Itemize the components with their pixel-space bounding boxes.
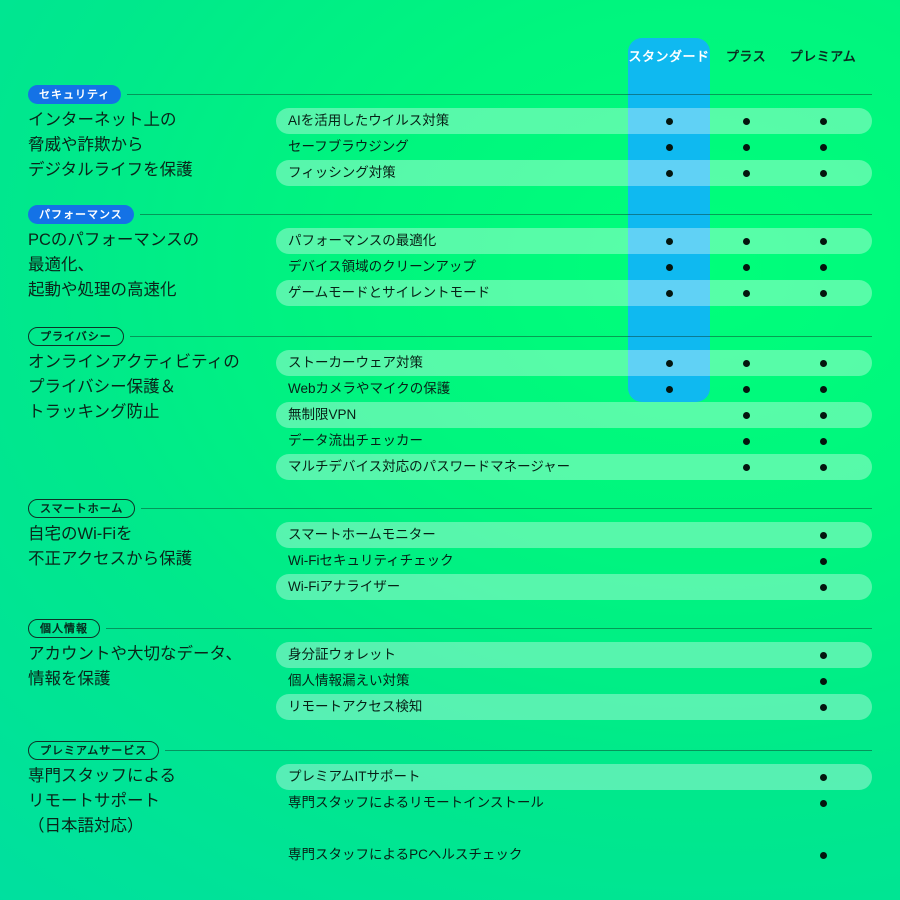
- availability-dot-standard: [666, 290, 673, 297]
- feature-label: 専門スタッフによるPCヘルスチェック: [276, 842, 522, 868]
- section-description-personal-info: アカウントや大切なデータ、 情報を保護: [28, 642, 280, 692]
- section-badge-personal-info: 個人情報: [28, 619, 100, 638]
- availability-dot-plus: [743, 118, 750, 125]
- availability-dot-premium: [820, 800, 827, 807]
- table-row: Wi-Fiアナライザー: [276, 574, 872, 600]
- table-row: 専門スタッフによるPCヘルスチェック: [276, 842, 872, 868]
- section-divider-personal-info: [106, 628, 872, 629]
- feature-label: 専門スタッフによるリモートインストール: [276, 790, 544, 816]
- table-row: AIを活用したウイルス対策: [276, 108, 872, 134]
- availability-dot-premium: [820, 438, 827, 445]
- section-divider-security: [127, 94, 872, 95]
- table-row: 無制限VPN: [276, 402, 872, 428]
- availability-dot-plus: [743, 386, 750, 393]
- feature-label: ゲームモードとサイレントモード: [276, 280, 490, 306]
- feature-label: Wi-Fiセキュリティチェック: [276, 548, 454, 574]
- section-header-privacy: プライバシー: [28, 326, 872, 346]
- feature-label: リモートアクセス検知: [276, 694, 422, 720]
- feature-rows-premium-service: プレミアムITサポート専門スタッフによるリモートインストール専門スタッフによるP…: [276, 764, 872, 868]
- section-description-privacy: オンラインアクティビティの プライバシー保護＆ トラッキング防止: [28, 350, 280, 425]
- plan-column-headers: スタンダードプラスプレミアム: [0, 48, 900, 78]
- feature-label: マルチデバイス対応のパスワードマネージャー: [276, 454, 570, 480]
- table-row: スマートホームモニター: [276, 522, 872, 548]
- section-badge-security: セキュリティ: [28, 85, 121, 104]
- availability-dot-standard: [666, 386, 673, 393]
- feature-rows-smart-home: スマートホームモニターWi-FiセキュリティチェックWi-Fiアナライザー: [276, 522, 872, 600]
- availability-dot-plus: [743, 412, 750, 419]
- availability-dot-premium: [820, 360, 827, 367]
- availability-dot-standard: [666, 118, 673, 125]
- availability-dot-premium: [820, 774, 827, 781]
- availability-dot-standard: [666, 360, 673, 367]
- table-row: リモートアクセス検知: [276, 694, 872, 720]
- table-row: セーフブラウジング: [276, 134, 872, 160]
- section-header-security: セキュリティ: [28, 84, 872, 104]
- availability-dot-plus: [743, 264, 750, 271]
- feature-label: 個人情報漏えい対策: [276, 668, 410, 694]
- section-divider-premium-service: [165, 750, 872, 751]
- availability-dot-plus: [743, 360, 750, 367]
- section-header-smart-home: スマートホーム: [28, 498, 872, 518]
- availability-dot-premium: [820, 652, 827, 659]
- availability-dot-premium: [820, 532, 827, 539]
- feature-label: プレミアムITサポート: [276, 764, 421, 790]
- availability-dot-premium: [820, 558, 827, 565]
- availability-dot-standard: [666, 170, 673, 177]
- feature-label: Webカメラやマイクの保護: [276, 376, 450, 402]
- availability-dot-premium: [820, 678, 827, 685]
- availability-dot-premium: [820, 238, 827, 245]
- feature-label: 無制限VPN: [276, 402, 356, 428]
- table-row: パフォーマンスの最適化: [276, 228, 872, 254]
- feature-rows-performance: パフォーマンスの最適化デバイス領域のクリーンアップゲームモードとサイレントモード: [276, 228, 872, 306]
- table-row: プレミアムITサポート: [276, 764, 872, 790]
- availability-dot-plus: [743, 238, 750, 245]
- table-row: 身分証ウォレット: [276, 642, 872, 668]
- availability-dot-plus: [743, 144, 750, 151]
- table-row: Wi-Fiセキュリティチェック: [276, 548, 872, 574]
- feature-label: AIを活用したウイルス対策: [276, 108, 449, 134]
- availability-dot-plus: [743, 438, 750, 445]
- feature-label: パフォーマンスの最適化: [276, 228, 436, 254]
- table-row: デバイス領域のクリーンアップ: [276, 254, 872, 280]
- availability-dot-premium: [820, 704, 827, 711]
- feature-rows-privacy: ストーカーウェア対策Webカメラやマイクの保護無制限VPNデータ流出チェッカーマ…: [276, 350, 872, 480]
- availability-dot-premium: [820, 144, 827, 151]
- availability-dot-premium: [820, 290, 827, 297]
- table-row: 専門スタッフによるリモートインストール: [276, 790, 872, 816]
- section-description-premium-service: 専門スタッフによる リモートサポート （日本語対応）: [28, 764, 280, 839]
- section-description-smart-home: 自宅のWi-Fiを 不正アクセスから保護: [28, 522, 280, 572]
- availability-dot-premium: [820, 386, 827, 393]
- availability-dot-standard: [666, 238, 673, 245]
- feature-label: Wi-Fiアナライザー: [276, 574, 400, 600]
- availability-dot-premium: [820, 264, 827, 271]
- section-description-security: インターネット上の 脅威や詐欺から デジタルライフを保護: [28, 108, 280, 183]
- availability-dot-premium: [820, 852, 827, 859]
- availability-dot-plus: [743, 170, 750, 177]
- availability-dot-plus: [743, 290, 750, 297]
- section-badge-smart-home: スマートホーム: [28, 499, 135, 518]
- feature-label: セーフブラウジング: [276, 134, 409, 160]
- availability-dot-premium: [820, 412, 827, 419]
- feature-rows-security: AIを活用したウイルス対策セーフブラウジングフィッシング対策: [276, 108, 872, 186]
- feature-row-spacer: [276, 816, 872, 842]
- plan-header-premium[interactable]: プレミアム: [768, 48, 878, 66]
- availability-dot-standard: [666, 144, 673, 151]
- section-header-personal-info: 個人情報: [28, 618, 872, 638]
- section-divider-privacy: [130, 336, 872, 337]
- feature-label: スマートホームモニター: [276, 522, 436, 548]
- table-row: ストーカーウェア対策: [276, 350, 872, 376]
- feature-label: データ流出チェッカー: [276, 428, 423, 454]
- feature-label: ストーカーウェア対策: [276, 350, 423, 376]
- table-row: マルチデバイス対応のパスワードマネージャー: [276, 454, 872, 480]
- feature-rows-personal-info: 身分証ウォレット個人情報漏えい対策リモートアクセス検知: [276, 642, 872, 720]
- section-header-premium-service: プレミアムサービス: [28, 740, 872, 760]
- feature-label: 身分証ウォレット: [276, 642, 396, 668]
- section-badge-premium-service: プレミアムサービス: [28, 741, 159, 760]
- availability-dot-plus: [743, 464, 750, 471]
- plan-comparison-table: スタンダードプラスプレミアム セキュリティインターネット上の 脅威や詐欺から デ…: [0, 0, 900, 900]
- table-row: データ流出チェッカー: [276, 428, 872, 454]
- section-header-performance: パフォーマンス: [28, 204, 872, 224]
- section-badge-privacy: プライバシー: [28, 327, 124, 346]
- section-badge-performance: パフォーマンス: [28, 205, 134, 224]
- availability-dot-premium: [820, 118, 827, 125]
- section-divider-smart-home: [141, 508, 872, 509]
- table-row: Webカメラやマイクの保護: [276, 376, 872, 402]
- availability-dot-premium: [820, 584, 827, 591]
- availability-dot-standard: [666, 264, 673, 271]
- section-description-performance: PCのパフォーマンスの 最適化、 起動や処理の高速化: [28, 228, 280, 303]
- table-row: ゲームモードとサイレントモード: [276, 280, 872, 306]
- feature-label: フィッシング対策: [276, 160, 396, 186]
- availability-dot-premium: [820, 464, 827, 471]
- availability-dot-premium: [820, 170, 827, 177]
- table-row: フィッシング対策: [276, 160, 872, 186]
- feature-label: デバイス領域のクリーンアップ: [276, 254, 476, 280]
- section-divider-performance: [140, 214, 872, 215]
- table-row: 個人情報漏えい対策: [276, 668, 872, 694]
